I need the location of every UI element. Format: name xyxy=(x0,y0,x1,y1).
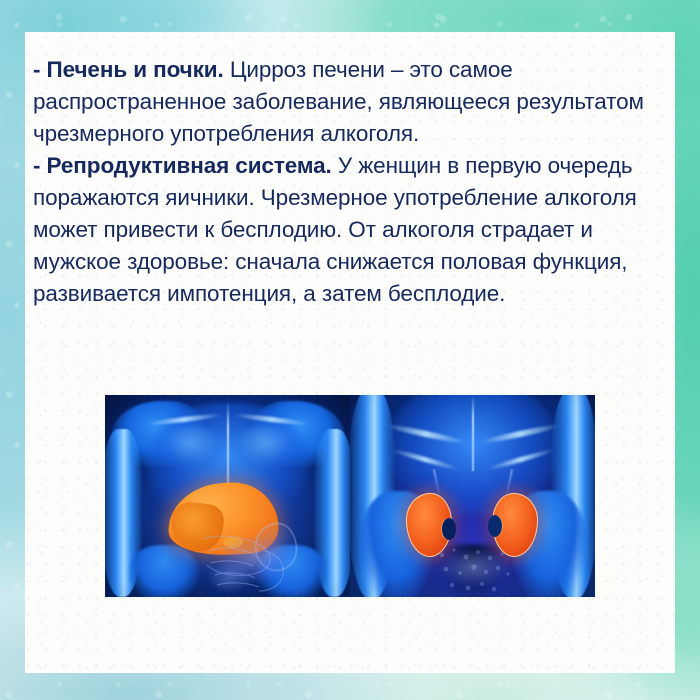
paragraph-liver-kidneys: - Печень и почки. Цирроз печени – это са… xyxy=(33,54,663,150)
paragraph-lead-liver-kidneys: - Печень и почки. xyxy=(33,57,224,82)
paragraph-lead-reproductive-system: - Репродуктивная система. xyxy=(33,153,332,178)
medical-illustration xyxy=(105,395,595,597)
paragraph-reproductive-system: - Репродуктивная система. У женщин в пер… xyxy=(33,150,663,310)
liver-panel xyxy=(105,395,350,597)
linea-alba-line xyxy=(472,395,474,471)
pelvic-organ-texture xyxy=(428,543,520,597)
kidney-panel xyxy=(350,395,595,597)
pectoral-right xyxy=(231,425,299,469)
content-card: - Печень и почки. Цирроз печени – это са… xyxy=(25,32,675,673)
body-text: - Печень и почки. Цирроз печени – это са… xyxy=(33,54,663,310)
infographic-page: - Печень и почки. Цирроз печени – это са… xyxy=(0,0,700,700)
pectoral-left xyxy=(157,425,225,469)
hip-left xyxy=(129,545,199,597)
sternum-line xyxy=(227,401,229,487)
intestine-outline xyxy=(191,531,301,597)
